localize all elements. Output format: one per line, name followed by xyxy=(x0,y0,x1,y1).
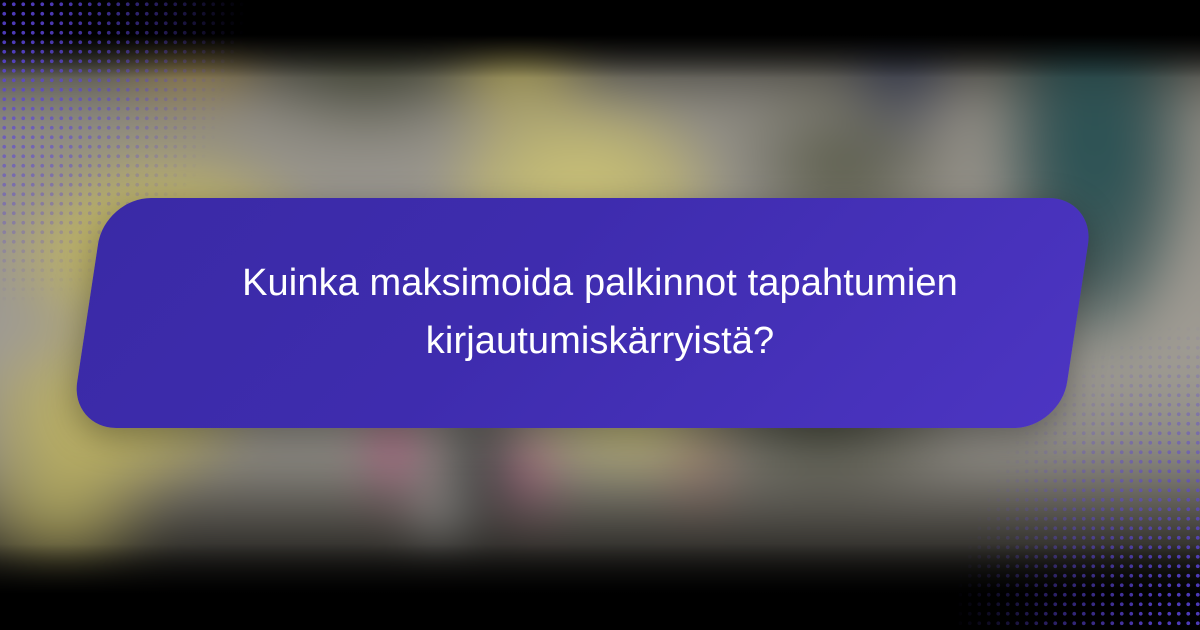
page-title: Kuinka maksimoida palkinnot tapahtumien … xyxy=(220,255,980,371)
headline-card: Kuinka maksimoida palkinnot tapahtumien … xyxy=(105,198,1095,428)
headline-card-content: Kuinka maksimoida palkinnot tapahtumien … xyxy=(105,198,1095,428)
share-card-canvas: Kuinka maksimoida palkinnot tapahtumien … xyxy=(0,0,1200,630)
